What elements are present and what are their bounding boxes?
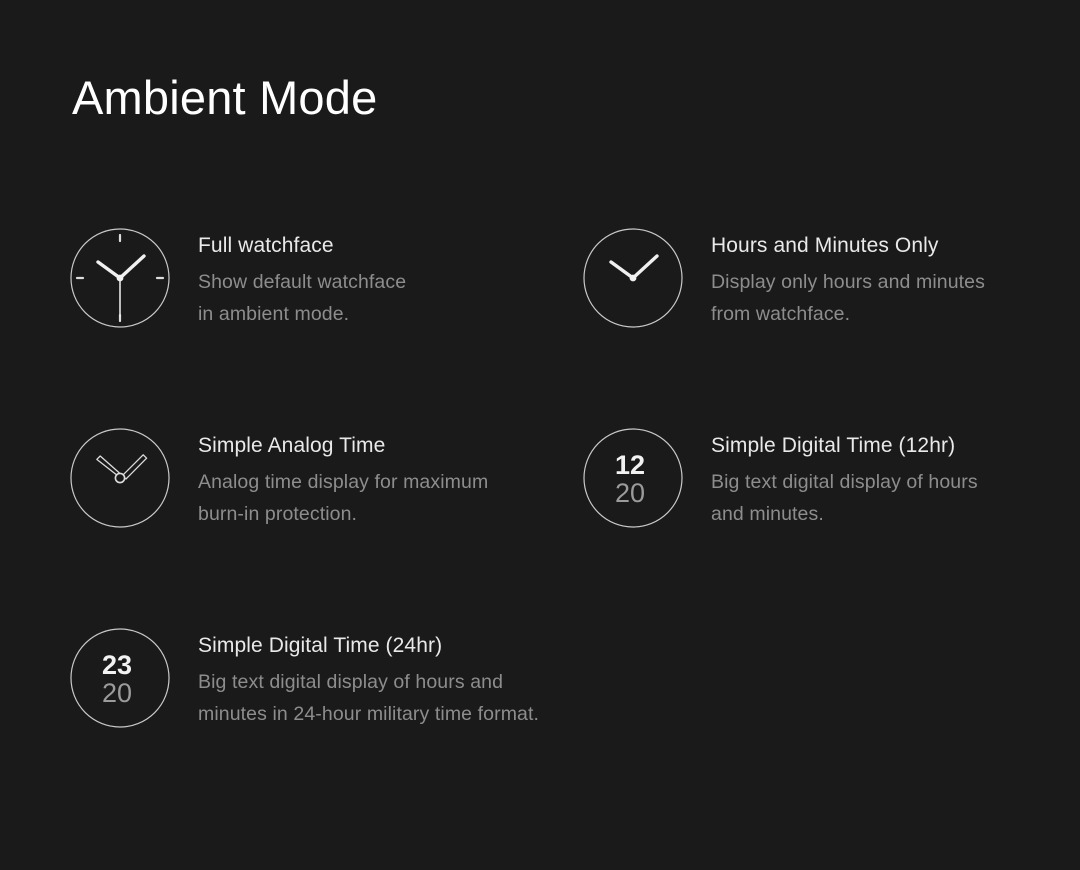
watchface-simple-analog-icon [70,428,170,528]
option-description-line: and minutes. [711,498,1063,530]
option-description-line: Big text digital display of hours [711,466,1063,498]
option-description-line: in ambient mode. [198,298,550,330]
digital-minute-value: 20 [102,678,132,708]
watchface-digital-12hr-icon: 12 20 [583,428,683,528]
digital-hour-value: 12 [615,450,645,480]
option-description-line: Show default watchface [198,266,550,298]
digital-hour-value: 23 [102,650,132,680]
ambient-mode-screen: Ambient Mode [0,0,1080,870]
option-description-line: from watchface. [711,298,1063,330]
option-description: Show default watchface in ambient mode. [198,266,550,330]
option-description: Analog time display for maximum burn-in … [198,466,550,530]
option-title: Simple Analog Time [198,433,550,459]
option-text-block: Simple Digital Time (12hr) Big text digi… [711,428,1063,530]
option-title: Simple Digital Time (12hr) [711,433,1063,459]
option-text-block: Full watchface Show default watchface in… [198,228,550,330]
option-simple-analog-time[interactable]: Simple Analog Time Analog time display f… [70,428,550,530]
option-description-line: Display only hours and minutes [711,266,1063,298]
option-description-line: minutes in 24-hour military time format. [198,698,550,730]
option-simple-digital-time-24hr[interactable]: 23 20 Simple Digital Time (24hr) Big tex… [70,628,550,730]
option-description-line: Big text digital display of hours and [198,666,550,698]
option-description-line: burn-in protection. [198,498,550,530]
option-description-line: Analog time display for maximum [198,466,550,498]
option-text-block: Hours and Minutes Only Display only hour… [711,228,1063,330]
digital-minute-value: 20 [615,478,645,508]
option-title: Hours and Minutes Only [711,233,1063,259]
watchface-full-icon [70,228,170,328]
option-simple-digital-time-12hr[interactable]: 12 20 Simple Digital Time (12hr) Big tex… [583,428,1063,530]
option-full-watchface[interactable]: Full watchface Show default watchface in… [70,228,550,330]
option-text-block: Simple Digital Time (24hr) Big text digi… [198,628,550,730]
page-title: Ambient Mode [72,72,377,124]
option-description: Display only hours and minutes from watc… [711,266,1063,330]
option-title: Full watchface [198,233,550,259]
watchface-digital-24hr-icon: 23 20 [70,628,170,728]
option-text-block: Simple Analog Time Analog time display f… [198,428,550,530]
option-hours-and-minutes-only[interactable]: Hours and Minutes Only Display only hour… [583,228,1063,330]
watchface-hours-minutes-icon [583,228,683,328]
option-description: Big text digital display of hours and mi… [198,666,550,730]
option-description: Big text digital display of hours and mi… [711,466,1063,530]
option-title: Simple Digital Time (24hr) [198,633,550,659]
